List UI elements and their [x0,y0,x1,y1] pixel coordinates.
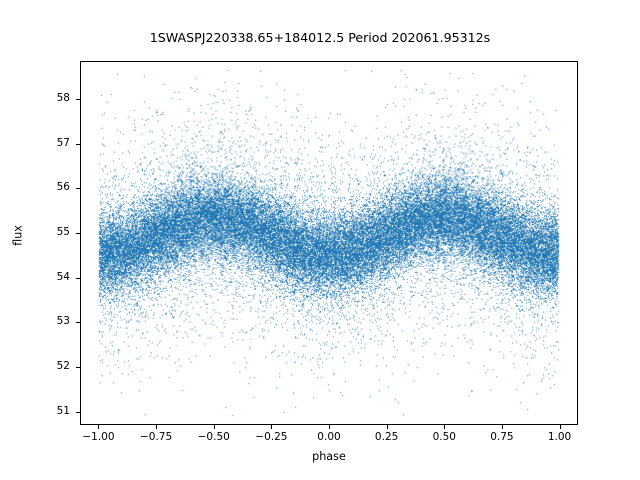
y-tick-mark [76,99,80,100]
x-tick-mark [444,425,445,429]
x-tick-mark [502,425,503,429]
y-tick-label: 54 [0,271,70,283]
y-tick-label: 55 [0,226,70,238]
scatter-data-layer [81,62,577,424]
x-tick-label: 0.75 [472,431,532,443]
y-tick-label: 51 [0,405,70,417]
x-tick-label: 0.25 [357,431,417,443]
x-tick-label: 1.00 [530,431,590,443]
x-tick-label: 0.50 [414,431,474,443]
x-tick-label: −0.25 [241,431,301,443]
x-tick-label: −0.50 [184,431,244,443]
y-tick-mark [76,322,80,323]
x-tick-label: 0.00 [299,431,359,443]
x-tick-mark [156,425,157,429]
plot-axes [80,61,578,425]
y-tick-mark [76,278,80,279]
x-tick-mark [271,425,272,429]
y-tick-mark [76,412,80,413]
y-tick-mark [76,367,80,368]
x-tick-mark [214,425,215,429]
x-tick-label: −0.75 [126,431,186,443]
y-tick-mark [76,233,80,234]
y-tick-label: 58 [0,92,70,104]
figure-canvas: 1SWASPJ220338.65+184012.5 Period 202061.… [0,0,640,480]
x-tick-mark [98,425,99,429]
y-tick-mark [76,144,80,145]
x-axis-label: phase [80,450,578,463]
x-tick-label: −1.00 [68,431,128,443]
x-tick-mark [387,425,388,429]
x-tick-mark [560,425,561,429]
x-tick-mark [329,425,330,429]
y-tick-label: 52 [0,360,70,372]
y-tick-label: 57 [0,137,70,149]
y-tick-label: 56 [0,181,70,193]
y-axis-label: flux [12,156,25,316]
y-tick-mark [76,188,80,189]
plot-title: 1SWASPJ220338.65+184012.5 Period 202061.… [0,30,640,45]
y-tick-label: 53 [0,315,70,327]
